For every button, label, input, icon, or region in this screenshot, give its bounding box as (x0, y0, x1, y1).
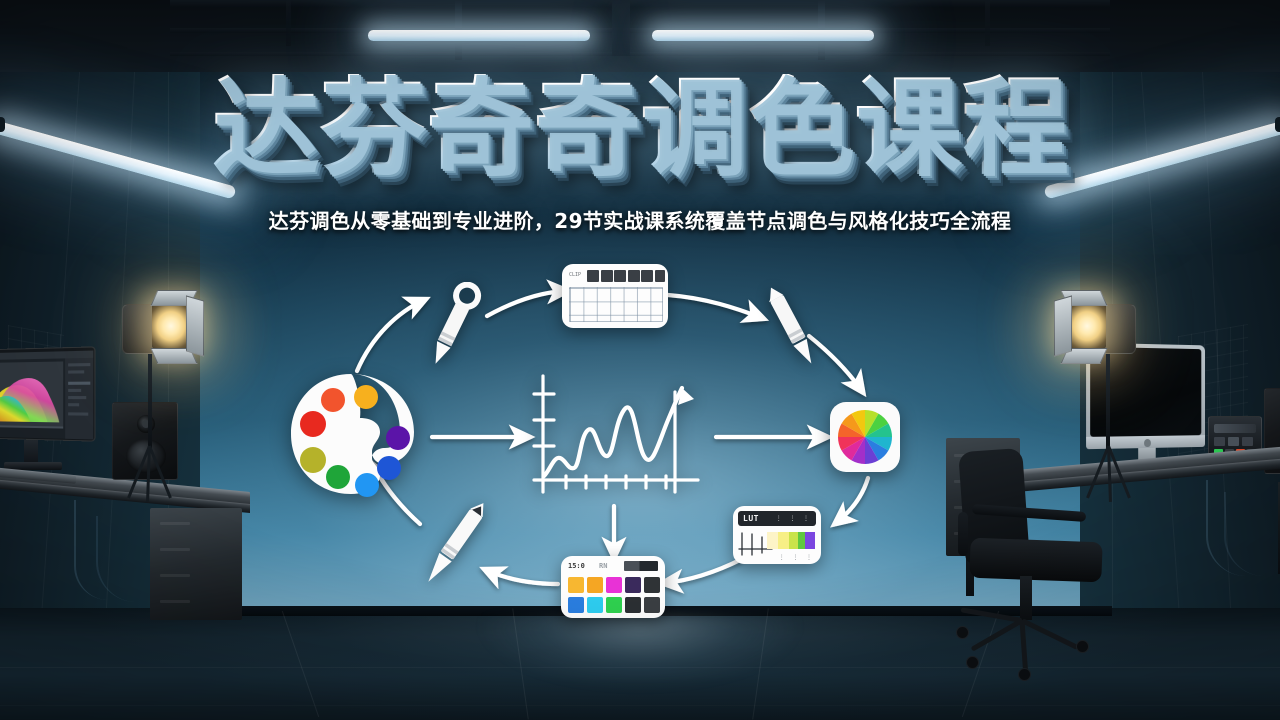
ceiling-beam (170, 0, 1110, 7)
ceiling-beam (286, 0, 291, 46)
page-subtitle: 达芬调色从零基础到专业进阶，29节实战课系统覆盖节点调色与风格化技巧全流程 (269, 205, 1012, 234)
left-monitor-neck (24, 440, 38, 464)
chair-seat (969, 538, 1102, 583)
ceiling-tube-light (652, 30, 874, 41)
cabinet-drawer (160, 600, 190, 603)
chair-caster-wheel (956, 626, 969, 639)
poster-canvas: 达芬奇奇调色课程 达芬调色从零基础到专业进阶，29节实战课系统覆盖节点调色与风格… (0, 0, 1280, 720)
cabinet-drawer (160, 522, 190, 525)
control-button[interactable] (1242, 437, 1253, 446)
cabinet-drawer (160, 548, 190, 551)
light-stand-leg (146, 446, 151, 502)
chair-armrest (958, 512, 968, 556)
studio-light-right (1010, 288, 1140, 518)
control-button[interactable] (1228, 437, 1239, 446)
left-monitor-frame (0, 346, 95, 441)
light-stand-leg (148, 445, 172, 498)
ceiling-beam (612, 0, 630, 56)
poster-title-block: 达芬奇奇调色课程 (0, 74, 1280, 182)
chair-spoke (961, 607, 1023, 623)
ceiling-beam (170, 28, 1110, 33)
left-cabinet (150, 508, 242, 620)
gamut-plot-svg (0, 351, 93, 440)
ceiling-tube-light (368, 30, 590, 41)
studio-light-left (118, 288, 248, 518)
chair-spoke (1021, 618, 1079, 650)
cabinet-drawer (160, 574, 190, 577)
control-button[interactable] (1214, 424, 1256, 433)
page-title: 达芬奇奇调色课程 (212, 74, 1068, 182)
chair-caster-wheel (1076, 640, 1089, 653)
chair-spoke (971, 618, 1024, 651)
chair-caster-wheel (966, 656, 979, 669)
chair-spoke (1020, 620, 1029, 674)
ceiling-beam (170, 52, 1110, 56)
barn-door-right (186, 295, 204, 356)
chair-caster-wheel (1018, 668, 1031, 681)
light-stand-pole (148, 354, 152, 450)
ceiling-beam (985, 0, 990, 46)
light-stand-pole (1106, 354, 1110, 450)
chair-post (1020, 576, 1032, 620)
poster-subtitle-block: 达芬调色从零基础到专业进阶，29节实战课系统覆盖节点调色与风格化技巧全流程 (0, 205, 1280, 234)
left-monitor-screen (0, 351, 93, 440)
control-button[interactable] (1214, 437, 1225, 446)
floor-tile-line (0, 705, 1280, 706)
apple-logo-icon (1144, 439, 1151, 447)
barn-door-right (1054, 295, 1072, 356)
ceiling (0, 0, 1280, 72)
